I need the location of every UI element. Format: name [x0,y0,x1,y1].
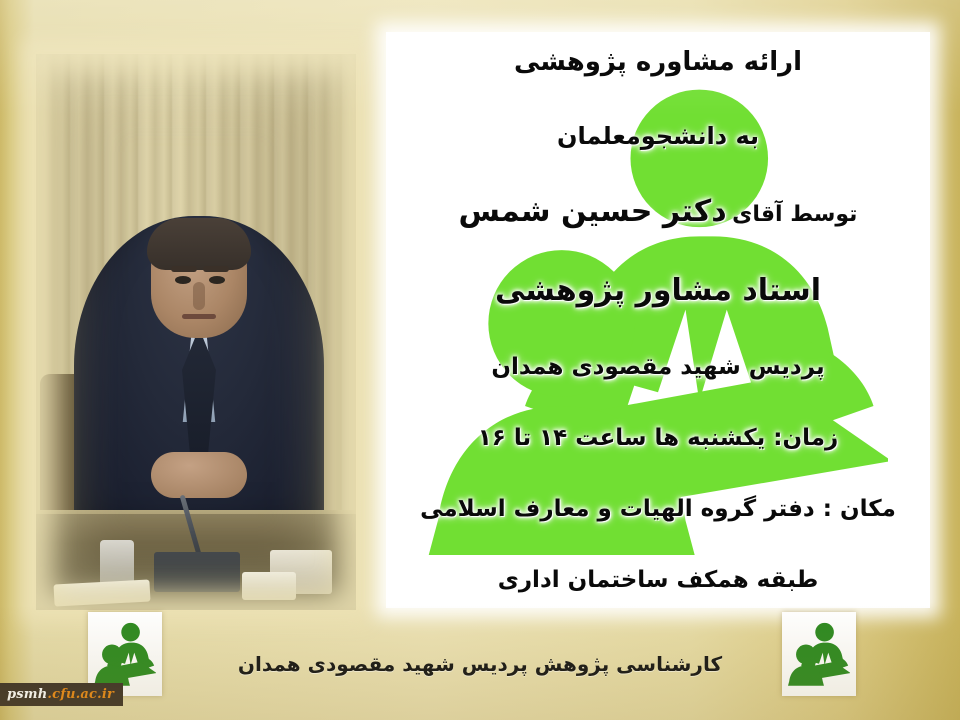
announcement-text-block: ارائه مشاوره پژوهشی به دانشجومعلمان توسط… [386,32,930,608]
site-url-watermark: psmh.cfu.ac.ir [0,683,123,706]
microphone-base [154,552,240,592]
headline-line-1: ارائه مشاوره پژوهشی [404,48,912,78]
speaker-title: استاد مشاور پژوهشی [404,274,912,309]
speaker-name: دکتر حسین شمس [459,194,727,229]
location-line: مکان : دفتر گروه الهیات و معارف اسلامی [404,496,912,522]
desk-tissue-box [242,572,296,600]
schedule-line: زمان: یکشنبه ها ساعت ۱۴ تا ۱۶ [404,425,912,451]
campus-name: پردیس شهید مقصودی همدان [404,354,912,380]
site-url-name: psmh [7,687,47,702]
speaker-hair [147,218,251,270]
speaker-line: توسط آقای دکتر حسین شمس [404,195,912,230]
speaker-brow-right [203,266,229,272]
site-url-domain: .cfu.ac.ir [47,687,114,702]
footer-caption: کارشناسی پژوهش پردیس شهید مقصودی همدان [200,652,760,676]
location-floor-line: طبقه همکف ساختمان اداری [404,567,912,593]
speaker-torso [74,216,324,546]
speaker-photo [36,54,356,610]
speaker-mouth [182,314,216,319]
announcement-panel: ارائه مشاوره پژوهشی به دانشجومعلمان توسط… [386,32,930,608]
consulting-logo-right [782,612,856,696]
speaker-hands [151,452,247,498]
speaker-brow-left [171,266,197,272]
speaker-eye-left [175,276,191,284]
poster-canvas: ارائه مشاوره پژوهشی به دانشجومعلمان توسط… [0,0,960,720]
speaker-nose [193,282,205,310]
speaker-head [151,220,247,338]
speaker-lead-text: توسط آقای [732,202,857,227]
speaker-photo-frame [36,54,356,610]
speaker-eye-right [209,276,225,284]
headline-line-2: به دانشجومعلمان [404,123,912,151]
